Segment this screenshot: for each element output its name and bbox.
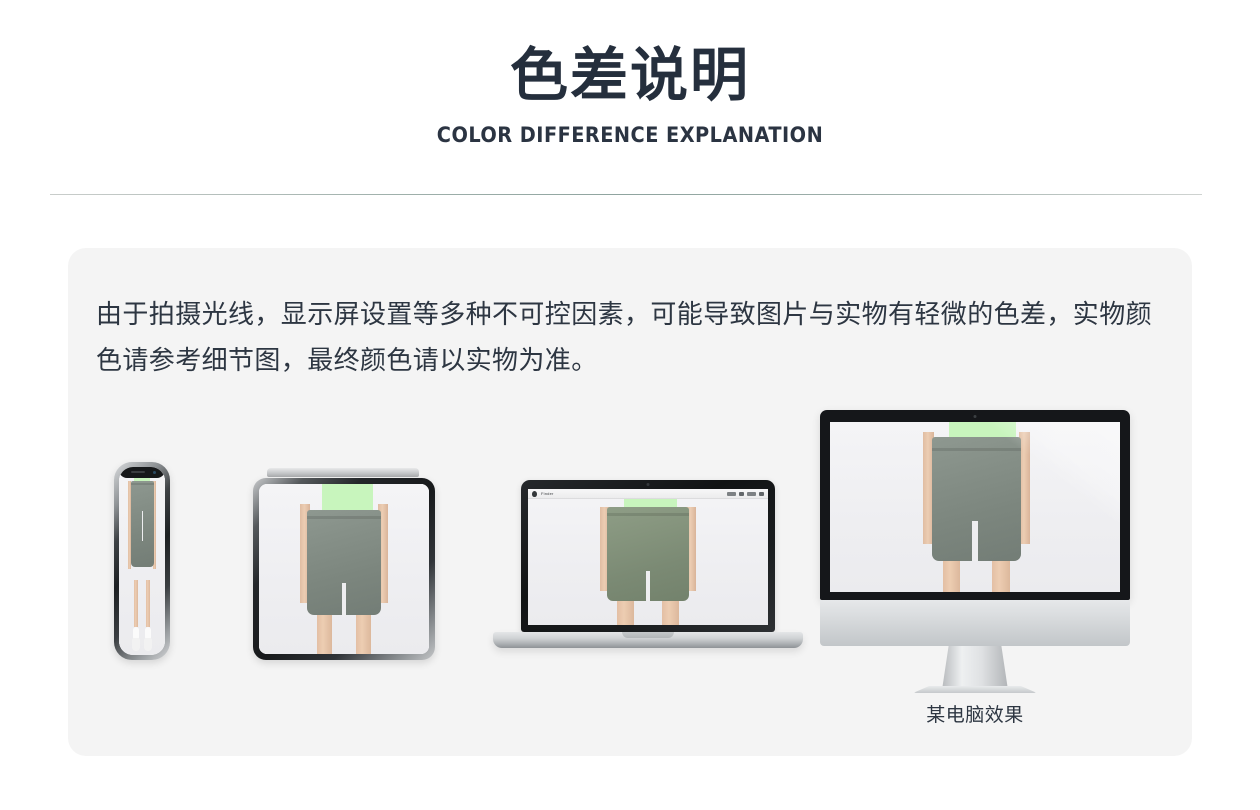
product-photo-phone bbox=[119, 467, 165, 655]
color-difference-page: 色差说明 COLOR DIFFERENCE EXPLANATION 由于拍摄光线… bbox=[0, 0, 1260, 810]
clock-icon bbox=[747, 492, 756, 496]
battery-icon bbox=[739, 492, 744, 496]
laptop-icon: Finder bbox=[521, 480, 775, 632]
page-header: 色差说明 COLOR DIFFERENCE EXPLANATION bbox=[0, 0, 1260, 194]
speaker-icon bbox=[131, 471, 145, 473]
device-desktop: 某电脑效果 bbox=[820, 410, 1130, 694]
product-photo-tablet bbox=[259, 484, 429, 654]
device-label-desktop: 某电脑效果 bbox=[855, 700, 1095, 727]
desktop-screen bbox=[830, 422, 1120, 592]
monitor-stand-neck bbox=[942, 646, 1008, 690]
page-title: 色差说明 bbox=[0, 44, 1260, 106]
tablet-icon bbox=[253, 478, 435, 660]
camera-icon bbox=[647, 483, 650, 486]
device-phone: 某手机效果 bbox=[114, 462, 170, 660]
desktop-monitor-icon bbox=[820, 410, 1130, 600]
tablet-screen bbox=[259, 484, 429, 654]
product-photo-desktop bbox=[830, 422, 1120, 592]
device-laptop: Finder bbox=[493, 480, 803, 652]
explanation-card: 由于拍摄光线，显示屏设置等多种不可控因素，可能导致图片与实物有轻微的色差，实物颜… bbox=[68, 248, 1192, 756]
device-showcase: 某手机效果 bbox=[68, 248, 1192, 756]
monitor-stand-base bbox=[913, 686, 1037, 693]
header-divider bbox=[50, 194, 1202, 195]
tablet-top-accessory bbox=[267, 468, 419, 477]
wifi-icon bbox=[727, 492, 736, 496]
page-subtitle: COLOR DIFFERENCE EXPLANATION bbox=[50, 122, 1209, 148]
camera-icon bbox=[153, 471, 156, 474]
product-photo-laptop bbox=[528, 489, 768, 625]
camera-icon bbox=[974, 415, 977, 418]
menubar-status-icons bbox=[727, 492, 764, 496]
phone-notch bbox=[119, 467, 165, 478]
device-tablet: 某IPAD效果 bbox=[253, 478, 435, 660]
apple-logo-icon bbox=[532, 491, 537, 497]
phone-screen bbox=[119, 467, 165, 655]
search-icon bbox=[759, 492, 764, 496]
menubar-app-name: Finder bbox=[541, 491, 554, 496]
monitor-chin bbox=[820, 600, 1130, 646]
laptop-base bbox=[493, 632, 803, 648]
laptop-screen: Finder bbox=[528, 489, 768, 625]
browser-menubar[interactable]: Finder bbox=[528, 489, 768, 499]
smartphone-icon bbox=[114, 462, 170, 660]
